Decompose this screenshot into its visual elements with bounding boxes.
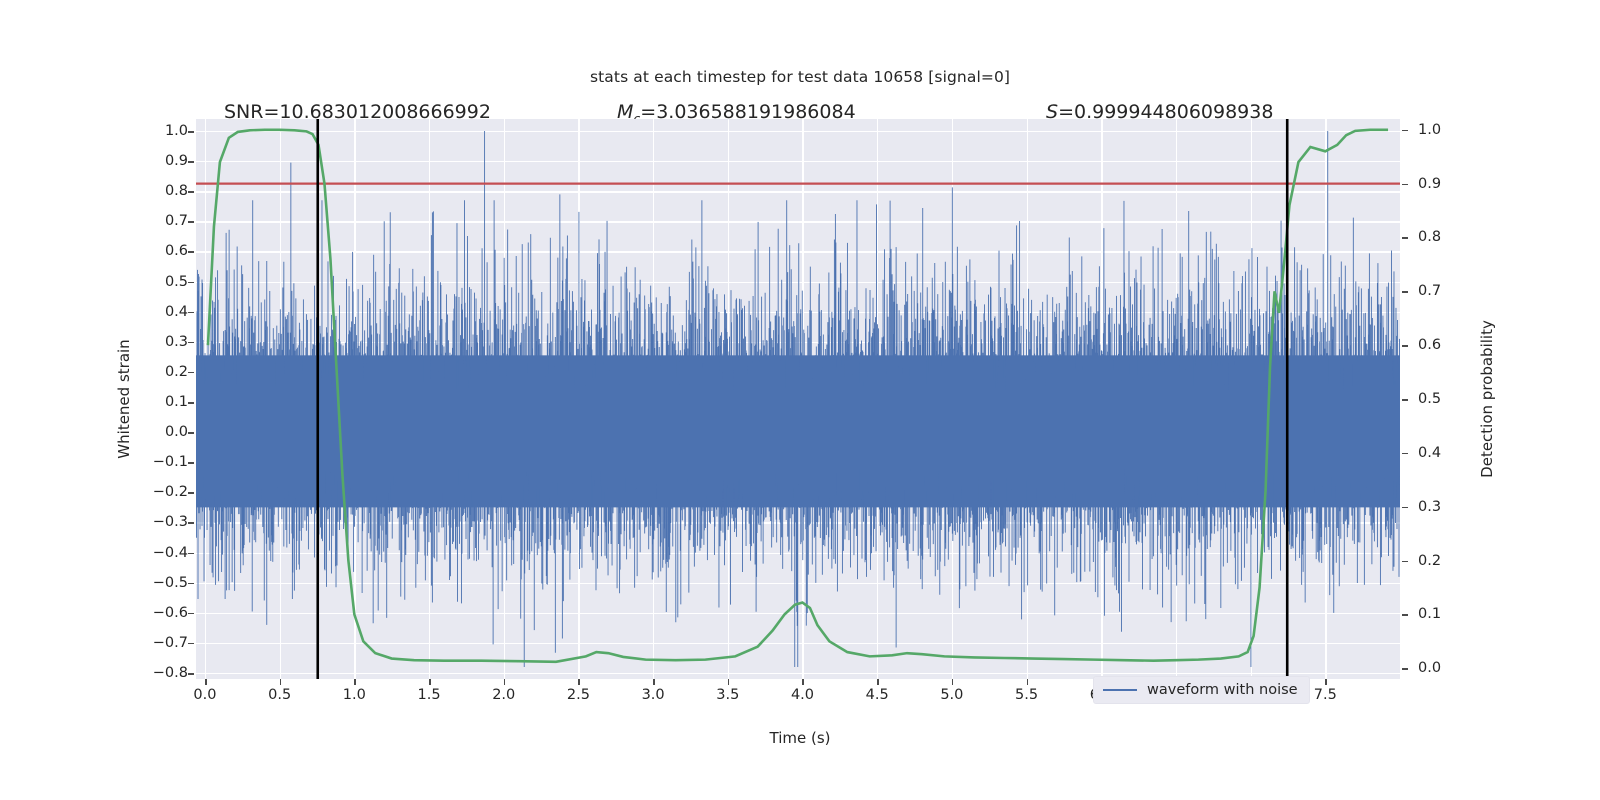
x-tick-label: 3.0 [642,687,665,703]
y-tick-label-left: 0.0 [68,424,188,440]
y-tick-mark-right [1402,130,1408,132]
y-tick-label-right: 0.1 [1418,606,1538,622]
x-tick-label: 0.0 [193,687,216,703]
y-tick-label-right: 0.7 [1418,283,1538,299]
x-tick-mark [1325,679,1327,685]
y-tick-mark-left [188,673,194,675]
y-tick-mark-left [188,372,194,374]
x-tick-mark [578,679,580,685]
y-tick-mark-left [188,282,194,284]
x-tick-label: 2.5 [567,687,590,703]
y-tick-mark-right [1402,668,1408,670]
x-tick-label: 5.0 [940,687,963,703]
y-tick-mark-right [1402,184,1408,186]
x-tick-mark [280,679,282,685]
y-tick-mark-left [188,131,194,133]
y-tick-label-right: 0.9 [1418,176,1538,192]
x-tick-mark [952,679,954,685]
x-tick-mark [653,679,655,685]
y-tick-mark-left [188,312,194,314]
y-tick-mark-left [188,553,194,555]
y-tick-mark-left [188,251,194,253]
y-tick-mark-left [188,462,194,464]
y-tick-label-right: 0.2 [1418,553,1538,569]
y-tick-mark-right [1402,614,1408,616]
x-tick-label: 2.0 [492,687,515,703]
y-tick-mark-left [188,583,194,585]
y-tick-mark-right [1402,453,1408,455]
x-tick-mark [802,679,804,685]
waveform-noise-series [196,131,1400,667]
y-tick-label-left: 0.5 [68,274,188,290]
y-tick-label-left: −0.2 [68,484,188,500]
y-tick-label-left: 0.3 [68,334,188,350]
x-tick-label: 4.5 [866,687,889,703]
y-tick-mark-left [188,613,194,615]
y-tick-label-right: 1.0 [1418,122,1538,138]
y-tick-label-left: −0.7 [68,635,188,651]
x-tick-mark [354,679,356,685]
x-tick-mark [429,679,431,685]
y-tick-label-left: −0.1 [68,454,188,470]
y-tick-mark-right [1402,399,1408,401]
y-tick-label-left: −0.5 [68,575,188,591]
data-layer [196,119,1400,679]
y-tick-mark-right [1402,345,1408,347]
x-tick-mark [728,679,730,685]
y-tick-mark-right [1402,561,1408,563]
y-tick-label-left: 0.4 [68,304,188,320]
y-tick-label-left: 1.0 [68,123,188,139]
y-tick-mark-left [188,522,194,524]
waveform-noise-trace [196,131,1400,667]
y-tick-mark-left [188,643,194,645]
y-tick-label-left: 0.2 [68,364,188,380]
x-tick-mark [504,679,506,685]
y-tick-label-left: 0.6 [68,243,188,259]
legend-label: waveform with noise [1147,682,1298,698]
x-tick-mark [877,679,879,685]
y-tick-label-left: −0.4 [68,545,188,561]
y-tick-mark-right [1402,291,1408,293]
x-tick-mark [1027,679,1029,685]
x-tick-label: 1.0 [343,687,366,703]
plot-area [196,119,1400,679]
y-tick-label-right: 0.3 [1418,499,1538,515]
x-tick-label: 3.5 [716,687,739,703]
x-tick-label: 1.5 [418,687,441,703]
y-tick-label-right: 0.8 [1418,229,1538,245]
x-tick-mark [205,679,207,685]
y-tick-mark-left [188,161,194,163]
x-tick-label: 7.5 [1314,687,1337,703]
x-axis-label: Time (s) [0,729,1600,747]
y-tick-mark-right [1402,237,1408,239]
y-tick-label-left: −0.8 [68,665,188,681]
y-tick-label-left: 0.8 [68,183,188,199]
page-title: stats at each timestep for test data 106… [0,68,1600,86]
y-tick-label-right: 0.5 [1418,391,1538,407]
x-tick-label: 0.5 [268,687,291,703]
legend-line-icon [1103,689,1137,691]
y-tick-mark-left [188,342,194,344]
y-tick-label-left: 0.7 [68,213,188,229]
y-tick-label-left: 0.1 [68,394,188,410]
y-tick-mark-right [1402,507,1408,509]
y-tick-label-right: 0.0 [1418,660,1538,676]
y-tick-mark-left [188,191,194,193]
y-tick-label-right: 0.4 [1418,445,1538,461]
y-tick-label-left: 0.9 [68,153,188,169]
x-tick-label: 4.0 [791,687,814,703]
y-tick-label-right: 0.6 [1418,337,1538,353]
figure-canvas: stats at each timestep for test data 106… [0,0,1600,800]
y-tick-label-left: −0.3 [68,514,188,530]
y-tick-mark-left [188,402,194,404]
y-tick-mark-left [188,492,194,494]
legend: waveform with noise [1093,676,1310,704]
x-tick-label: 5.5 [1015,687,1038,703]
y-tick-label-left: −0.6 [68,605,188,621]
y-tick-mark-left [188,221,194,223]
y-tick-mark-left [188,432,194,434]
